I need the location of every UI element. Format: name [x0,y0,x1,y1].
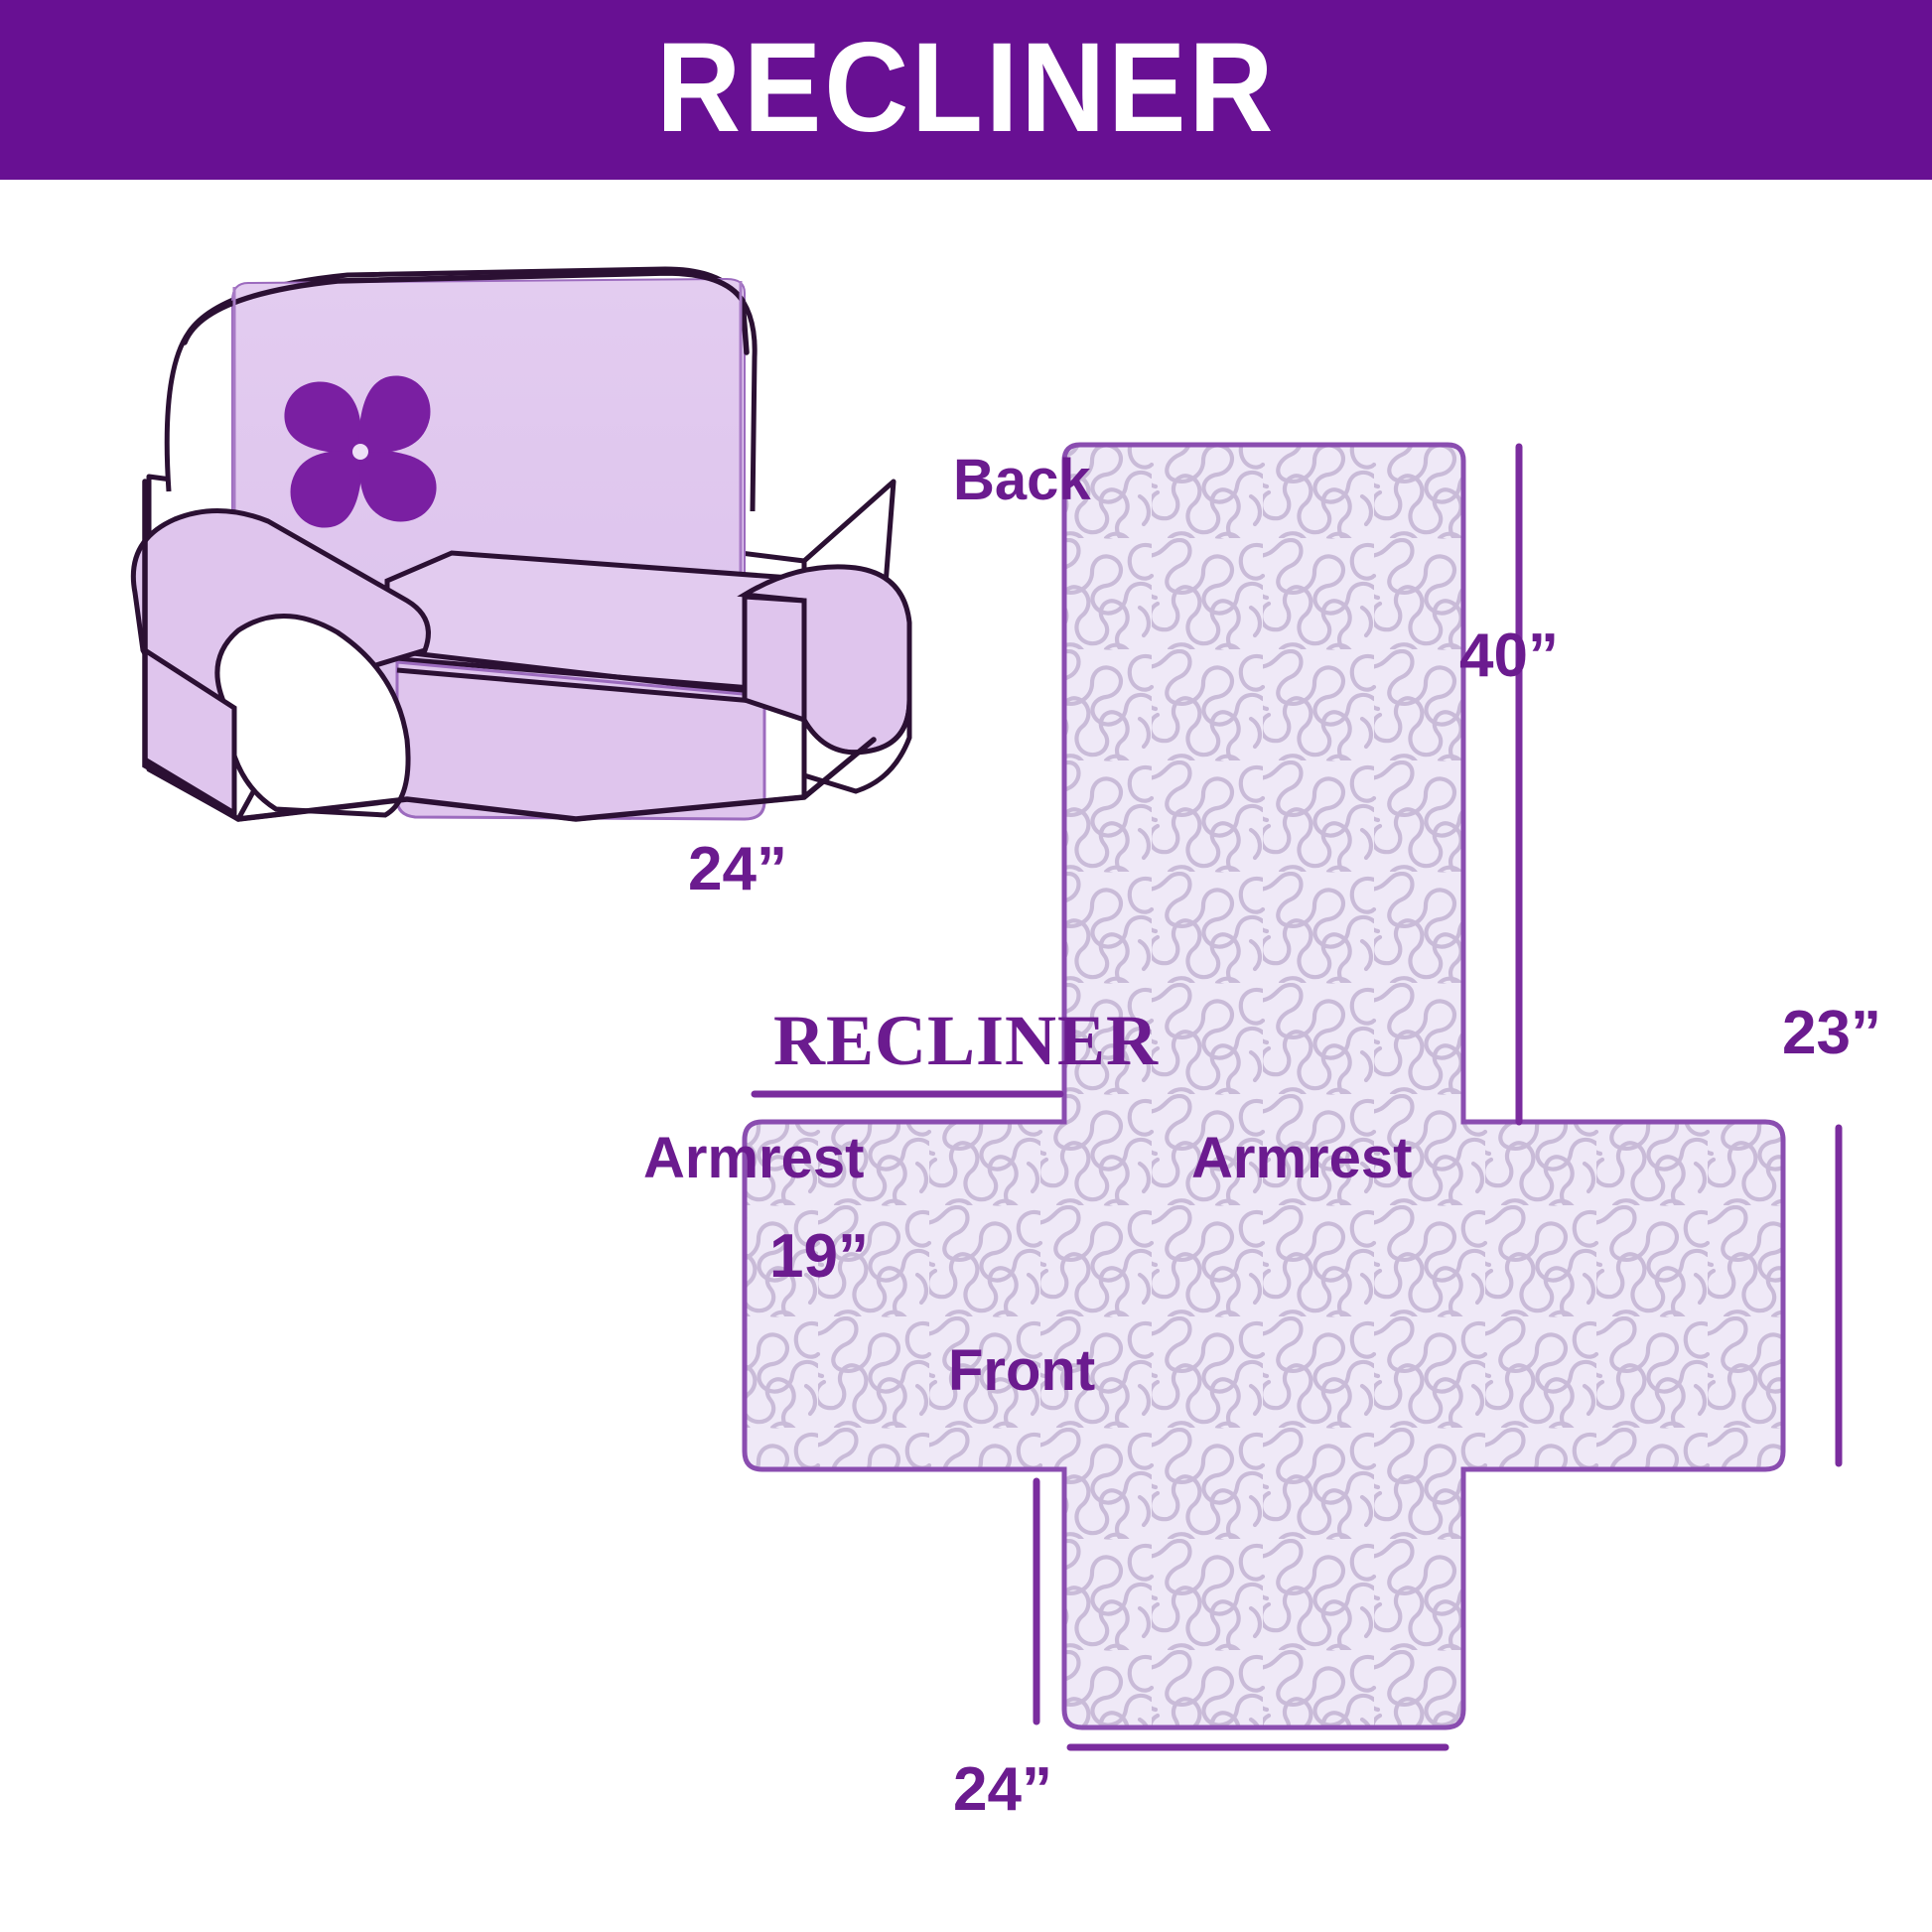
cover-label-back: Back [953,452,1091,509]
cover-cross-outline [745,445,1783,1727]
cover-label-armrest-left: Armrest [643,1130,864,1187]
dimension-label-front-width: 24” [953,1759,1052,1821]
page-title: RECLINER [656,25,1276,152]
dimension-label-back-width: 24” [688,839,787,900]
dimension-label-front-height: 19” [769,1226,869,1288]
cover-label-armrest-right: Armrest [1191,1130,1412,1187]
cover-label-front: Front [948,1342,1095,1400]
product-size-chart-page: RECLINER [0,0,1932,1932]
dimension-label-armrest-height: 23” [1782,1003,1881,1064]
cover-center-label: RECLINER [0,1005,1932,1076]
cover-diagram [596,427,1932,1817]
dimension-label-back-height: 40” [1459,625,1559,687]
header-band: RECLINER [0,0,1932,180]
cover-cross-shape [596,427,1932,1817]
